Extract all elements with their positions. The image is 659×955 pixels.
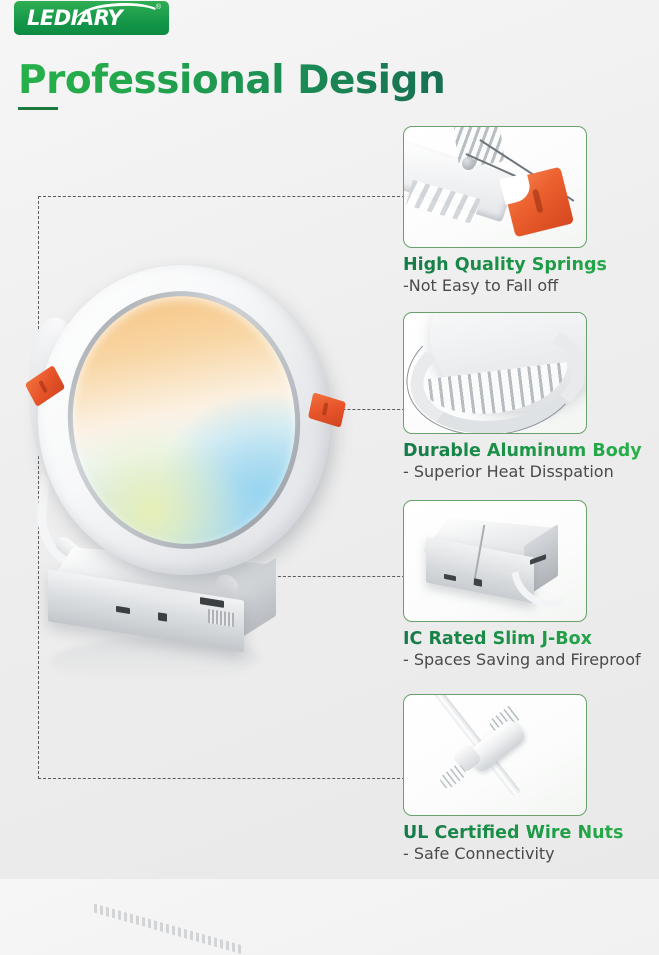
orange-clip: [502, 167, 574, 238]
callout-photo-jbox: [403, 500, 587, 622]
callout-aluminum-body: Durable Aluminum Body - Superior Heat Di…: [403, 312, 651, 481]
page-title: Professional Design: [18, 58, 445, 103]
callout-subtitle-wire-nuts: - Safe Connectivity: [403, 844, 651, 863]
logo-wordmark: LEDIARY: [27, 6, 122, 30]
product-image-downlight: [20, 255, 360, 675]
spring-pivot-screw: [462, 157, 475, 170]
callout-photo-aluminum: [403, 312, 587, 434]
registered-trademark-symbol: ®: [156, 4, 161, 11]
downlight-bezel: [53, 278, 315, 562]
junction-box-label-text: [94, 903, 244, 954]
junction-box-knockout-2: [158, 612, 167, 621]
callout-photo-wire-nuts: [403, 694, 587, 816]
callout-title-jbox: IC Rated Slim J-Box: [403, 629, 651, 649]
callout-jbox: IC Rated Slim J-Box - Spaces Saving and …: [403, 500, 651, 669]
title-underline: [18, 107, 58, 110]
jbox-knockout-2: [474, 578, 482, 587]
coil-spring: [453, 126, 505, 168]
callout-title-aluminum: Durable Aluminum Body: [403, 441, 651, 461]
callout-springs: High Quality Springs -Not Easy to Fall o…: [403, 126, 651, 295]
callout-subtitle-springs: -Not Easy to Fall off: [403, 276, 651, 295]
callout-photo-springs: [403, 126, 587, 248]
brand-logo: LEDIARY ®: [14, 1, 169, 35]
callout-wire-nuts: UL Certified Wire Nuts - Safe Connectivi…: [403, 694, 651, 863]
callout-title-springs: High Quality Springs: [403, 255, 651, 275]
downlight-lens: [59, 283, 310, 556]
callout-subtitle-jbox: - Spaces Saving and Fireproof: [403, 650, 651, 669]
callout-title-wire-nuts: UL Certified Wire Nuts: [403, 823, 651, 843]
callout-subtitle-aluminum: - Superior Heat Disspation: [403, 462, 651, 481]
